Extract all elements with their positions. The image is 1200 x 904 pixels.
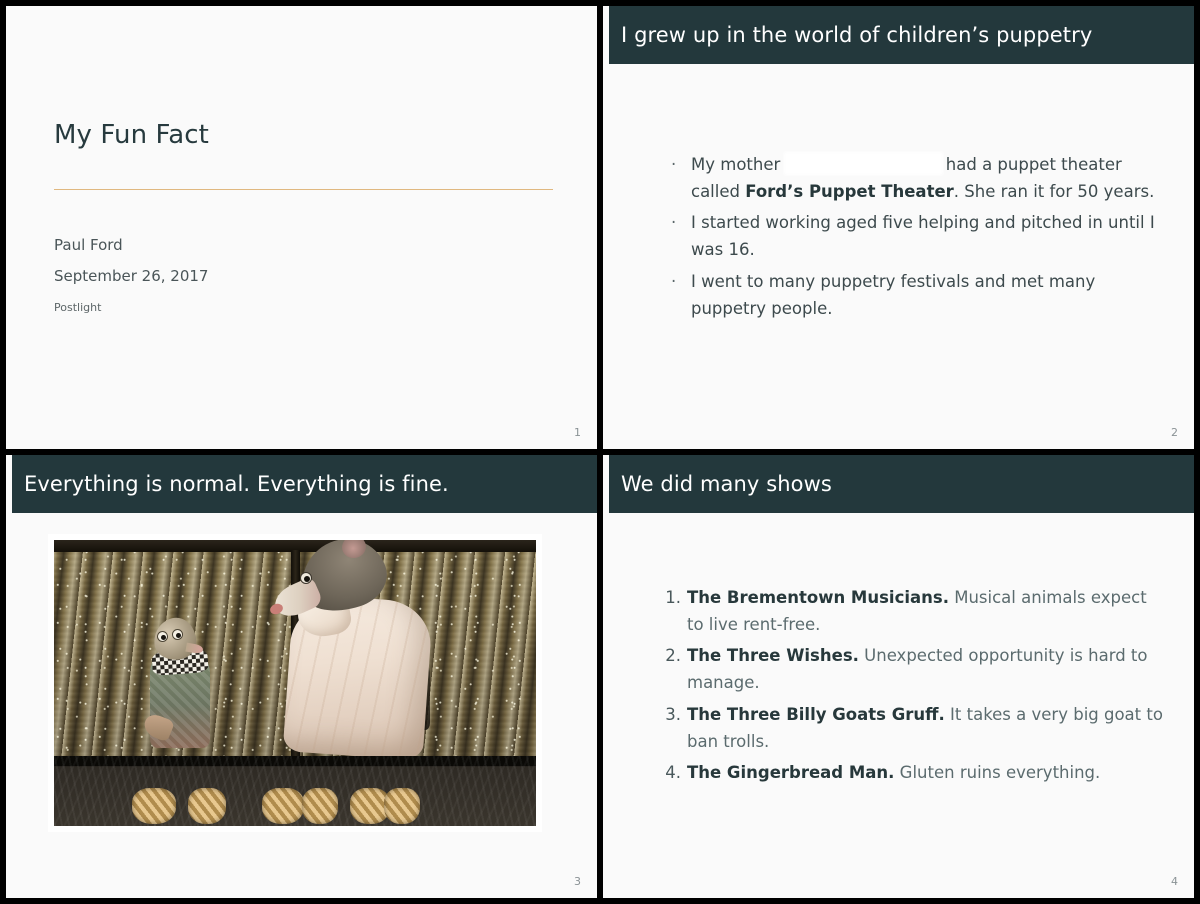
list-item-number: 4.	[661, 760, 681, 787]
large-rat-eye	[300, 572, 312, 584]
list-item: 3. The Three Billy Goats Gruff. It takes…	[661, 702, 1168, 755]
list-item-title: The Three Wishes.	[687, 646, 859, 665]
slide-thumbnail-3[interactable]: Everything is normal. Everything is fine…	[0, 452, 600, 904]
slide-thumbnail-1[interactable]: My Fun Fact Paul Ford September 26, 2017…	[0, 0, 600, 452]
list-item: 1. The Brementown Musicians. Musical ani…	[661, 585, 1168, 638]
list-item-title: The Three Billy Goats Gruff.	[687, 705, 945, 724]
puppet-stage-photo	[54, 540, 536, 826]
byline-date: September 26, 2017	[54, 269, 208, 284]
list-item: 2. The Three Wishes. Unexpected opportun…	[661, 643, 1168, 696]
redacted-block	[786, 154, 941, 173]
list-item-description: Gluten ruins everything.	[900, 763, 1101, 782]
rope-decoration	[384, 788, 420, 824]
slide-thumbnail-2[interactable]: I grew up in the world of children’s pup…	[600, 0, 1200, 452]
list-item-number: 1.	[661, 585, 681, 612]
rope-decoration	[132, 788, 176, 824]
bullet-dot-icon: ·	[671, 152, 676, 179]
title-slide-body: My Fun Fact Paul Ford September 26, 2017…	[54, 6, 553, 449]
photo-frame	[48, 534, 542, 832]
bullet-text-segment: I went to many puppetry festivals and me…	[691, 272, 1095, 318]
bullet-list: · My mother had a puppet theater called …	[669, 152, 1164, 327]
slide-thumbnail-4[interactable]: We did many shows 1. The Brementown Musi…	[600, 452, 1200, 904]
byline-block: Paul Ford September 26, 2017 Postlight	[54, 238, 208, 313]
byline-author: Paul Ford	[54, 238, 208, 253]
page-number: 4	[1171, 875, 1178, 888]
small-rat-eye-left	[157, 631, 168, 642]
slide-4-header-title: We did many shows	[621, 472, 832, 496]
bullet-text-segment: . She ran it for 50 years.	[954, 182, 1155, 201]
list-item-title: The Brementown Musicians.	[687, 588, 949, 607]
slide-4-canvas: We did many shows 1. The Brementown Musi…	[603, 455, 1194, 898]
rope-decoration	[188, 788, 226, 824]
page-title: My Fun Fact	[54, 120, 209, 151]
slide-3-header-bar: Everything is normal. Everything is fine…	[12, 455, 597, 513]
list-item: 4. The Gingerbread Man. Gluten ruins eve…	[661, 760, 1168, 787]
title-divider-rule	[54, 189, 553, 190]
bullet-text-segment: I started working aged five helping and …	[691, 213, 1155, 259]
rope-decoration	[262, 788, 304, 824]
slide-2-header-bar: I grew up in the world of children’s pup…	[609, 6, 1194, 64]
page-number: 2	[1171, 426, 1178, 439]
slide-2-body: · My mother had a puppet theater called …	[603, 64, 1194, 449]
numbered-list: 1. The Brementown Musicians. Musical ani…	[661, 585, 1168, 792]
list-item: · I went to many puppetry festivals and …	[669, 269, 1164, 322]
slide-4-header-bar: We did many shows	[609, 455, 1194, 513]
list-item-number: 2.	[661, 643, 681, 670]
bullet-dot-icon: ·	[671, 269, 676, 296]
list-item-title: The Gingerbread Man.	[687, 763, 894, 782]
rope-decoration	[302, 788, 338, 824]
slide-2-canvas: I grew up in the world of children’s pup…	[603, 6, 1194, 449]
slide-2-header-title: I grew up in the world of children’s pup…	[621, 23, 1092, 47]
bullet-text-emphasis: Ford’s Puppet Theater	[745, 182, 954, 201]
bullet-dot-icon: ·	[671, 210, 676, 237]
small-rat-eye-right	[172, 629, 183, 640]
slide-3-header-title: Everything is normal. Everything is fine…	[24, 472, 449, 496]
page-number: 3	[574, 875, 581, 888]
slide-3-canvas: Everything is normal. Everything is fine…	[6, 455, 597, 898]
slide-3-body	[6, 513, 597, 898]
small-rat-puppet	[150, 618, 212, 748]
list-item: · My mother had a puppet theater called …	[669, 152, 1164, 205]
slide-1-canvas: My Fun Fact Paul Ford September 26, 2017…	[6, 6, 597, 449]
page-number: 1	[574, 426, 581, 439]
stage-apron	[54, 756, 536, 826]
list-item-number: 3.	[661, 702, 681, 729]
large-rat-puppet	[280, 540, 430, 756]
slide-thumbnail-grid: My Fun Fact Paul Ford September 26, 2017…	[0, 0, 1200, 904]
byline-organization: Postlight	[54, 302, 208, 313]
list-item: · I started working aged five helping an…	[669, 210, 1164, 263]
bullet-text-segment: My mother	[691, 155, 786, 174]
slide-4-body: 1. The Brementown Musicians. Musical ani…	[603, 513, 1194, 898]
